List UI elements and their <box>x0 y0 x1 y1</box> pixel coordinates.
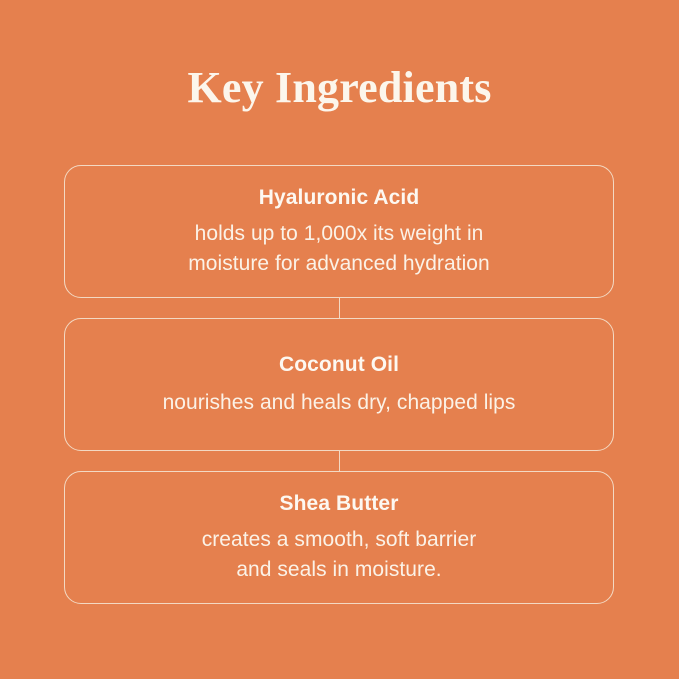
ingredient-card-coconut-oil: Coconut Oil nourishes and heals dry, cha… <box>64 318 614 451</box>
ingredient-card-hyaluronic-acid: Hyaluronic Acid holds up to 1,000x its w… <box>64 165 614 298</box>
ingredient-description: creates a smooth, soft barrier and seals… <box>202 525 477 585</box>
ingredient-card-shea-butter: Shea Butter creates a smooth, soft barri… <box>64 471 614 604</box>
ingredient-description-line: holds up to 1,000x its weight in <box>188 219 490 249</box>
ingredient-title: Shea Butter <box>280 490 399 517</box>
key-ingredients-infographic: Key Ingredients Hyaluronic Acid holds up… <box>0 0 679 679</box>
ingredient-description: holds up to 1,000x its weight in moistur… <box>188 219 490 279</box>
ingredient-title: Coconut Oil <box>279 351 399 378</box>
ingredient-description-line: creates a smooth, soft barrier <box>202 525 477 555</box>
ingredient-card-stack: Hyaluronic Acid holds up to 1,000x its w… <box>64 165 614 604</box>
ingredient-description-line: nourishes and heals dry, chapped lips <box>163 388 516 418</box>
ingredient-description: nourishes and heals dry, chapped lips <box>163 388 516 418</box>
page-title: Key Ingredients <box>0 60 679 116</box>
card-connector-line <box>339 451 340 471</box>
ingredient-description-line: moisture for advanced hydration <box>188 249 490 279</box>
ingredient-title: Hyaluronic Acid <box>259 184 420 211</box>
ingredient-description-line: and seals in moisture. <box>202 555 477 585</box>
card-connector-line <box>339 298 340 318</box>
